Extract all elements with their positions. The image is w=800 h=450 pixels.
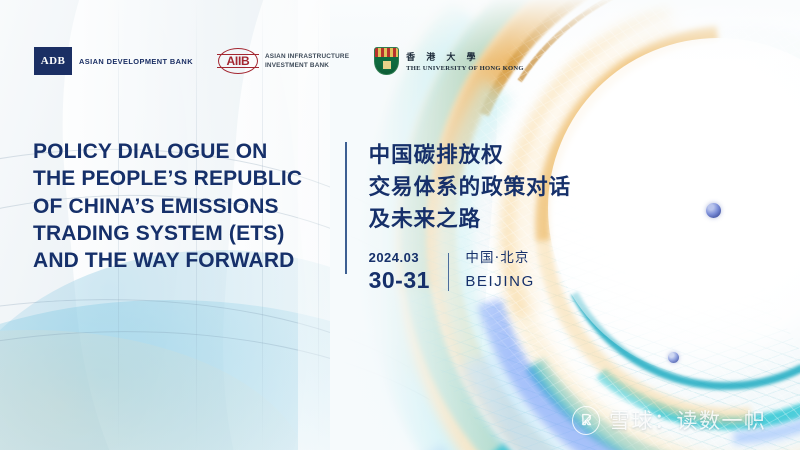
title-english-line: THE PEOPLE’S REPUBLIC — [33, 165, 333, 192]
title-english: POLICY DIALOGUE ON THE PEOPLE’S REPUBLIC… — [33, 138, 333, 274]
adb-mark-icon: ADB — [34, 47, 72, 75]
background-glow — [0, 330, 310, 450]
title-block: POLICY DIALOGUE ON THE PEOPLE’S REPUBLIC… — [33, 138, 571, 292]
event-meta: 2024.03 30-31 中国·北京 BEIJING — [369, 251, 572, 292]
title-chinese-line: 中国碳排放权 — [369, 140, 572, 172]
decorative-sphere — [668, 352, 679, 363]
adb-label: ASIAN DEVELOPMENT BANK — [79, 57, 193, 66]
watermark: 雪球：读数一帜 — [572, 405, 767, 435]
event-date: 2024.03 30-31 — [369, 251, 430, 292]
event-location: 中国·北京 BEIJING — [465, 251, 535, 289]
aiib-mark-text: AIIB — [227, 54, 250, 68]
title-right-column: 中国碳排放权 交易体系的政策对话 及未来之路 2024.03 30-31 中国·… — [369, 138, 572, 292]
title-divider — [345, 142, 347, 274]
sponsor-logo-row: ADB ASIAN DEVELOPMENT BANK AIIB ASIAN IN… — [34, 47, 524, 75]
hku-label: 香 港 大 學 THE UNIVERSITY OF HONG KONG — [406, 50, 524, 72]
logo-aiib: AIIB ASIAN INFRASTRUCTURE INVESTMENT BAN… — [218, 48, 349, 74]
title-english-line: TRADING SYSTEM (ETS) — [33, 220, 333, 247]
logo-hku: 香 港 大 學 THE UNIVERSITY OF HONG KONG — [374, 47, 524, 75]
hku-label-cn: 香 港 大 學 — [406, 50, 524, 63]
title-english-line: AND THE WAY FORWARD — [33, 247, 333, 274]
xueqiu-logo-icon — [572, 406, 600, 435]
title-chinese: 中国碳排放权 交易体系的政策对话 及未来之路 — [369, 140, 572, 235]
title-english-line: POLICY DIALOGUE ON — [33, 138, 333, 165]
aiib-mark-icon: AIIB — [218, 48, 258, 74]
title-chinese-line: 交易体系的政策对话 — [369, 172, 572, 204]
hku-label-en: THE UNIVERSITY OF HONG KONG — [406, 65, 524, 72]
event-date-year-month: 2024.03 — [369, 251, 430, 264]
meta-divider — [448, 253, 449, 291]
logo-asian-development-bank: ADB ASIAN DEVELOPMENT BANK — [34, 47, 193, 75]
conference-banner: ADB ASIAN DEVELOPMENT BANK AIIB ASIAN IN… — [0, 0, 800, 450]
aiib-label: ASIAN INFRASTRUCTURE INVESTMENT BANK — [265, 52, 349, 71]
swirl-core — [548, 38, 800, 378]
title-chinese-line: 及未来之路 — [369, 204, 572, 236]
aiib-label-line1: ASIAN INFRASTRUCTURE — [265, 52, 349, 61]
hku-shield-icon — [374, 47, 399, 75]
event-location-cn: 中国·北京 — [465, 252, 535, 266]
event-date-days: 30-31 — [369, 269, 430, 292]
hku-crest-icon — [374, 47, 399, 75]
aiib-label-line2: INVESTMENT BANK — [265, 61, 349, 70]
watermark-text: 雪球：读数一帜 — [609, 405, 767, 435]
title-english-line: OF CHINA’S EMISSIONS — [33, 193, 333, 220]
event-location-en: BEIJING — [465, 274, 535, 289]
decorative-sphere — [706, 203, 721, 218]
